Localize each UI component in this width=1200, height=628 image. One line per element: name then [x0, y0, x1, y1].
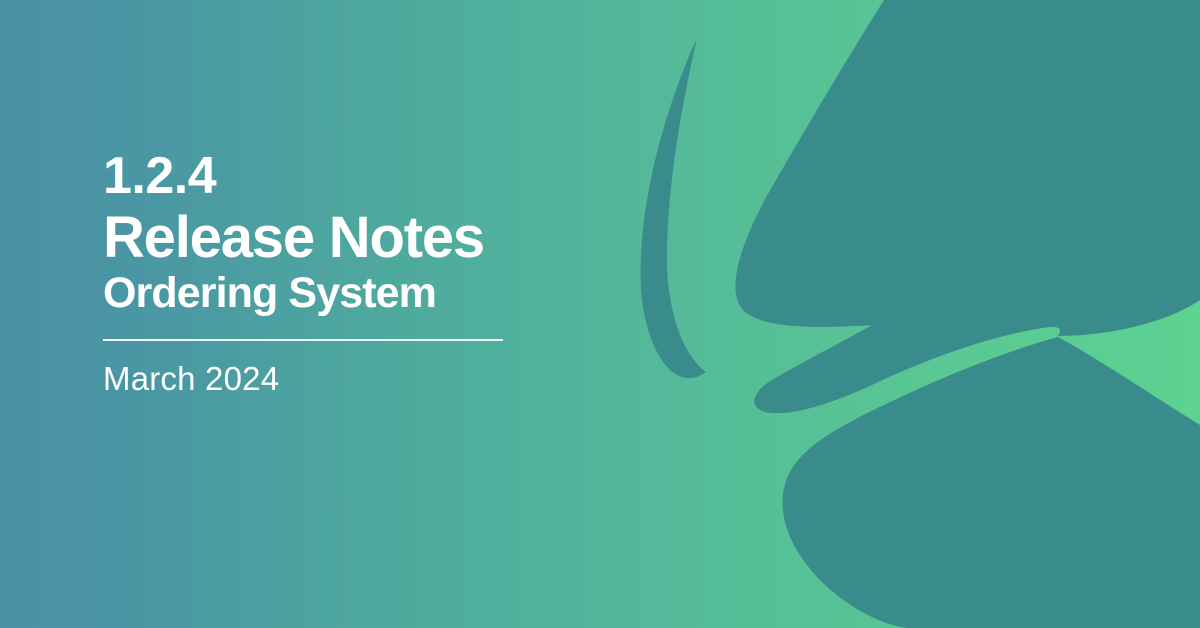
upper-wing-shape: [735, 0, 1200, 413]
version-number: 1.2.4: [103, 150, 663, 202]
title-text-block: 1.2.4 Release Notes Ordering System Marc…: [103, 150, 663, 397]
page-title: Release Notes: [103, 208, 663, 268]
release-date: March 2024: [103, 361, 663, 397]
release-notes-banner: 1.2.4 Release Notes Ordering System Marc…: [0, 0, 1200, 628]
product-name: Ordering System: [103, 270, 663, 316]
title-divider: [103, 339, 503, 341]
